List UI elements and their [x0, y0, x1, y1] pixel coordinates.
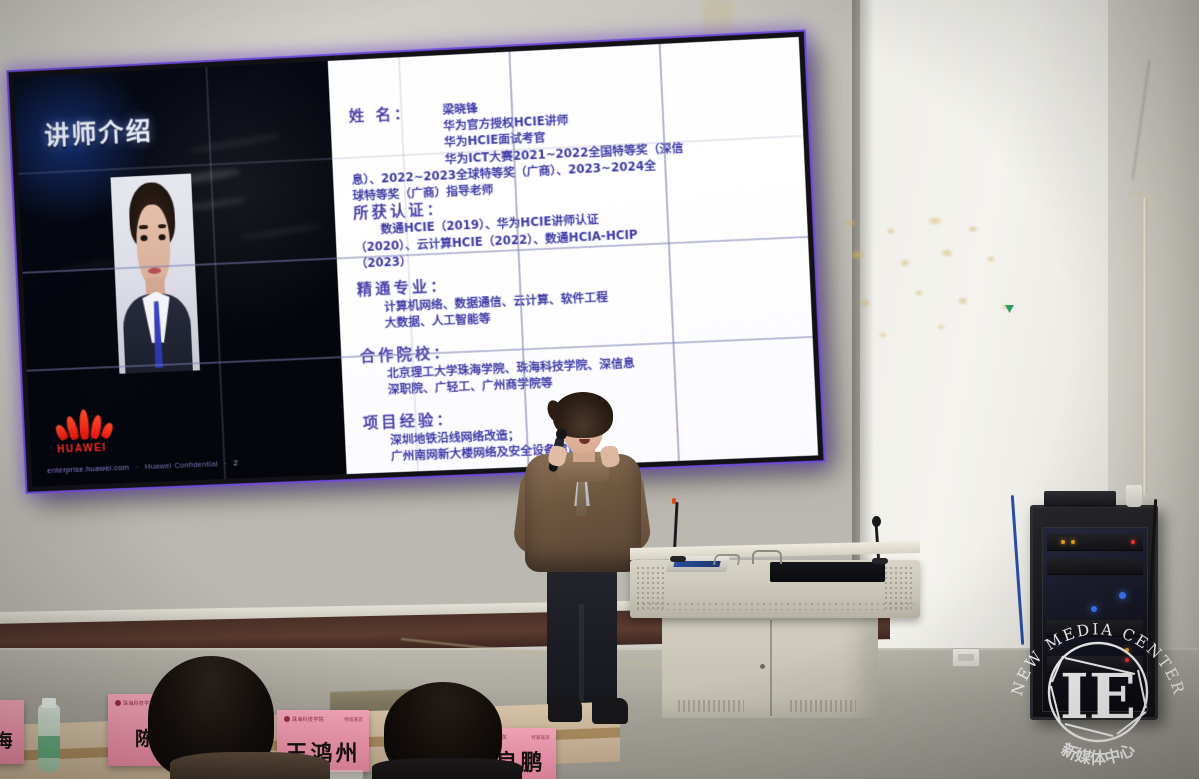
- footer-sep-2: ·: [224, 459, 227, 468]
- video-wall-bezel: 讲师介绍: [8, 32, 823, 492]
- mic-base-right: [872, 558, 888, 564]
- slide-section-name: 姓 名： 梁晓锋 华为官方授权HCIE讲师 华为HCIE面试考官 华为ICT大赛…: [348, 89, 685, 204]
- slide-section-partner-schools: 合作院校： 北京理工大学珠海学院、珠海科技学院、深信息 深职院、广轻工、广州商学…: [359, 333, 636, 399]
- lectern-document-clip: [713, 554, 741, 565]
- footer-site: enterprise.huawei.com: [47, 463, 129, 475]
- water-bottle-cap: [42, 698, 56, 708]
- slide-title: 讲师介绍: [44, 111, 154, 152]
- footer-confidential: Huawei Confidential: [145, 459, 218, 471]
- rack-led-blue: [1091, 606, 1097, 612]
- huawei-wordmark: HUAWEI: [57, 443, 107, 456]
- slide-section-specialties: 精通专业： 计算机网络、数据通信、云计算、软件工程 大数据、人工智能等: [356, 268, 609, 333]
- name-placard: 海: [0, 700, 24, 764]
- audience-member-shoulders: [372, 758, 522, 779]
- lectern-door-seam: [770, 620, 772, 716]
- rack-top-device: [1044, 491, 1116, 507]
- conduit-bend: [1128, 192, 1153, 211]
- lectern-recessed-monitor[interactable]: [770, 562, 885, 582]
- lectern-vent-left: [678, 700, 744, 712]
- rack-unit: [1047, 558, 1143, 575]
- gooseneck-mic-right-head: [872, 516, 881, 527]
- slide-section-certifications: 所获认证： 数通HCIE（2019）、华为HCIE讲师认证 （2020）、云计算…: [353, 189, 639, 271]
- gooseneck-mic-left-tip: [672, 498, 676, 504]
- rack-led-amber: [1125, 648, 1129, 652]
- water-bottle-label: [38, 736, 60, 758]
- rack-unit: [1047, 620, 1143, 637]
- lectern[interactable]: [630, 548, 920, 718]
- rack-led-amber: [1071, 540, 1075, 544]
- slide-footer: enterprise.huawei.com · Huawei Confident…: [47, 459, 238, 476]
- standing-person-shoe-left: [548, 698, 582, 722]
- audience-member-shoulders: [170, 752, 330, 779]
- lectern-perforation-band: [636, 602, 914, 610]
- wall-cable-conduit: [1142, 195, 1147, 495]
- placard-sub: 特邀嘉宾: [531, 735, 550, 741]
- tape-residue-marks: [795, 215, 1095, 365]
- lectern-lid-handle[interactable]: [752, 550, 782, 564]
- standing-person-shoe-right: [592, 698, 628, 724]
- footer-sep-1: ·: [135, 463, 138, 472]
- huawei-logo: [55, 404, 115, 440]
- video-wall-screen: 讲师介绍: [14, 37, 818, 487]
- placard-sub: 特邀嘉宾: [344, 717, 363, 723]
- rack-led-amber: [1061, 540, 1065, 544]
- video-wall-display[interactable]: 讲师介绍: [8, 32, 823, 492]
- lectern-vent-right: [790, 700, 856, 712]
- rack-led-red: [1125, 658, 1129, 662]
- rack-glass-door[interactable]: [1042, 527, 1148, 712]
- footer-page-number: 2: [233, 459, 238, 468]
- screenshot-root: 讲师介绍: [0, 0, 1199, 779]
- mic-base-left: [670, 556, 686, 562]
- presenter-legs: [547, 564, 617, 716]
- av-equipment-rack[interactable]: [1030, 505, 1158, 720]
- slide-left-panel: 讲师介绍: [14, 61, 347, 487]
- placard-name: 海: [0, 727, 24, 753]
- lectern-door-knob[interactable]: [760, 664, 765, 669]
- rack-led-red: [1131, 540, 1135, 544]
- placard-org: 珠海科技学院: [284, 716, 324, 723]
- paper-cup: [1126, 485, 1142, 507]
- instructor-portrait: [110, 173, 199, 374]
- rack-led-blue: [1119, 592, 1126, 599]
- wall-power-outlet[interactable]: [952, 648, 980, 667]
